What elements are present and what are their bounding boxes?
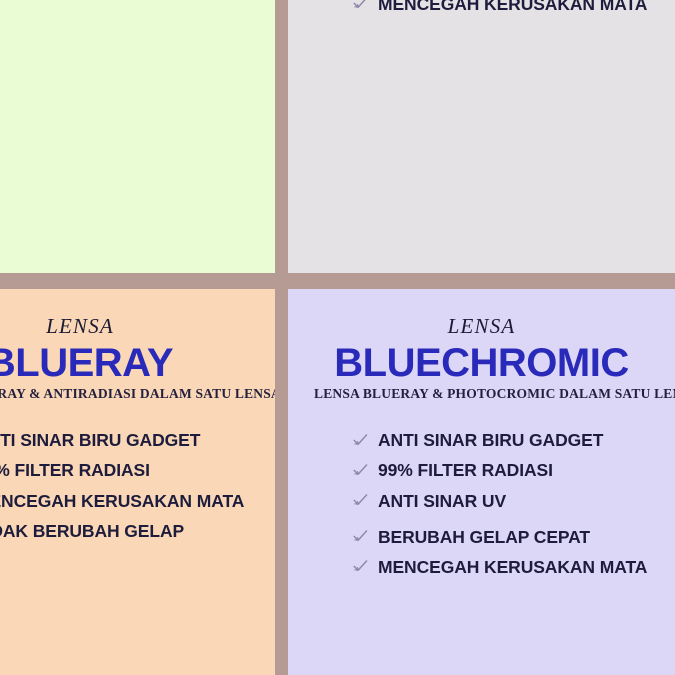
promo-grid: LENSA BLUERAY LENSA BLUERAY & ANTIRADIAS… bbox=[0, 0, 675, 675]
feature-label: MENCEGAH KERUSAKAN MATA bbox=[378, 0, 647, 14]
feature-label: ANTI SINAR BIRU GADGET bbox=[378, 430, 603, 450]
card-subtitle: LENSA BLUERAY & PHOTOCROMIC DALAM SATU L… bbox=[314, 386, 649, 402]
promo-card-bottom-right[interactable]: LENSA BLUECHROMIC LENSA BLUERAY & PHOTOC… bbox=[288, 289, 675, 675]
card-brand-title: BLUERAY bbox=[0, 342, 249, 384]
check-icon bbox=[352, 528, 369, 545]
grid-divider-horizontal bbox=[0, 273, 675, 289]
check-icon bbox=[352, 462, 369, 479]
feature-item: MENCEGAH KERUSAKAN MATA bbox=[314, 557, 649, 577]
feature-item: MENCEGAH KERUSAKAN MATA bbox=[314, 0, 649, 14]
feature-label: 99% FILTER RADIASI bbox=[378, 460, 553, 480]
feature-list: ANTI SINAR BIRU GADGET99% FILTER RADIASI… bbox=[314, 430, 649, 577]
card-header: LENSA BLUECHROMIC LENSA BLUERAY & PHOTOC… bbox=[314, 289, 649, 402]
feature-item: ANTI SINAR UV bbox=[314, 491, 649, 511]
card-header: LENSA BLUERAY LENSA BLUERAY & ANTIRADIAS… bbox=[0, 289, 249, 402]
check-icon bbox=[352, 492, 369, 509]
card-eyebrow: LENSA bbox=[0, 315, 249, 338]
feature-label: 50% FILTER RADIASI bbox=[0, 460, 150, 480]
promo-card-top-left[interactable]: LENSA BLUERAY LENSA BLUERAY & ANTIRADIAS… bbox=[0, 0, 275, 273]
feature-item: ANTI SINAR BIRU GADGET bbox=[0, 430, 249, 450]
feature-label: BERUBAH GELAP CEPAT bbox=[378, 527, 590, 547]
feature-item: TIDAK BERUBAH GELAP bbox=[0, 521, 249, 541]
feature-label: ANTI SINAR BIRU GADGET bbox=[0, 430, 200, 450]
promo-card-bottom-left[interactable]: LENSA BLUERAY LENSA BLUERAY & ANTIRADIAS… bbox=[0, 289, 275, 675]
feature-list: ANTI SINAR BIRU GADGET50% FILTER RADIASI… bbox=[0, 430, 249, 541]
check-icon bbox=[352, 558, 369, 575]
check-icon bbox=[352, 432, 369, 449]
feature-item: ANTI SINAR BIRU GADGET bbox=[314, 430, 649, 450]
feature-item: BERUBAH GELAP CEPAT bbox=[314, 527, 649, 547]
card-eyebrow: LENSA bbox=[314, 315, 649, 338]
card-subtitle: LENSA BLUERAY & ANTIRADIASI DALAM SATU L… bbox=[0, 386, 249, 402]
card-brand-title: BLUECHROMIC bbox=[314, 342, 649, 384]
feature-item: MENCEGAH KERUSAKAN MATA bbox=[0, 491, 249, 511]
feature-label: MENCEGAH KERUSAKAN MATA bbox=[0, 491, 244, 511]
grid-divider-vertical bbox=[275, 0, 288, 675]
feature-label: TIDAK BERUBAH GELAP bbox=[0, 521, 184, 541]
feature-item: 50% FILTER RADIASI bbox=[0, 460, 249, 480]
check-icon bbox=[352, 0, 369, 12]
feature-list: ANTI SINAR BIRU GADGET50% FILTER RADIASI… bbox=[314, 0, 649, 14]
promo-card-top-right[interactable]: LENSA BLUECHROMIC LENSA ANTIRADIASI & PH… bbox=[288, 0, 675, 273]
feature-label: MENCEGAH KERUSAKAN MATA bbox=[378, 557, 647, 577]
feature-label: ANTI SINAR UV bbox=[378, 491, 506, 511]
feature-item: 99% FILTER RADIASI bbox=[314, 460, 649, 480]
